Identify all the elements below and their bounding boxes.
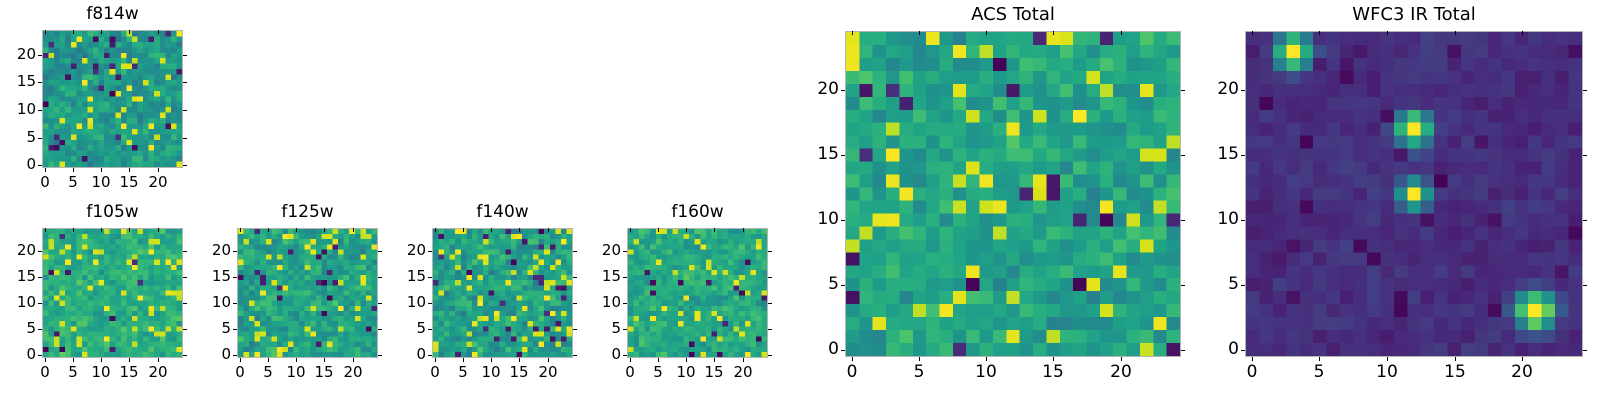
ytick-right-f140w-15 (573, 277, 577, 278)
axes-f814w[interactable] (42, 30, 183, 168)
xticklabel-acs-total-20: 20 (1096, 364, 1146, 381)
xtick-wfc3-ir-total-20 (1522, 357, 1523, 361)
xtick-f140w-10 (491, 358, 492, 362)
xticklabel-f160w-20: 20 (718, 365, 768, 380)
panel-title-f160w: f160w (627, 204, 768, 221)
yticklabel-acs-total-5: 5 (779, 276, 839, 293)
xtick-f105w-5 (73, 358, 74, 362)
xticklabel-wfc3-ir-total-5: 5 (1294, 364, 1344, 381)
xtick-wfc3-ir-total-5 (1319, 357, 1320, 361)
yticklabel-f105w-0: 0 (0, 347, 36, 362)
xtick-f814w-15 (129, 168, 130, 172)
xtick-f140w-5 (463, 358, 464, 362)
yticklabel-f814w-0: 0 (0, 157, 36, 172)
xticklabel-wfc3-ir-total-20: 20 (1497, 364, 1547, 381)
xtick-f125w-20 (353, 358, 354, 362)
xtick-f160w-0 (630, 358, 631, 362)
axes-wfc3-ir-total[interactable] (1245, 31, 1583, 357)
ytick-right-f160w-15 (768, 277, 772, 278)
xtick-f140w-15 (519, 358, 520, 362)
xtick-acs-total-10 (986, 357, 987, 361)
panel-title-f140w: f140w (432, 204, 573, 221)
xtick-acs-total-0 (852, 357, 853, 361)
xtick-f814w-10 (101, 168, 102, 172)
ytick-right-f105w-10 (183, 303, 187, 304)
heatmap-f140w (433, 229, 572, 357)
xtick-f125w-15 (324, 358, 325, 362)
xticklabel-acs-total-10: 10 (961, 364, 1011, 381)
xtick-f140w-20 (548, 358, 549, 362)
panel-title-f105w: f105w (42, 204, 183, 221)
ytick-right-f814w-10 (183, 110, 187, 111)
yticklabel-acs-total-15: 15 (779, 146, 839, 163)
xticklabel-acs-total-15: 15 (1028, 364, 1078, 381)
yticklabel-f105w-10: 10 (0, 295, 36, 310)
ytick-right-f814w-15 (183, 82, 187, 83)
ytick-right-f125w-15 (378, 277, 382, 278)
xtick-wfc3-ir-total-10 (1387, 357, 1388, 361)
xticklabel-f105w-20: 20 (133, 365, 183, 380)
xticklabel-f140w-15: 15 (494, 365, 544, 380)
ytick-right-f125w-5 (378, 329, 382, 330)
xtick-f125w-10 (296, 358, 297, 362)
yticklabel-f105w-15: 15 (0, 269, 36, 284)
xticklabel-wfc3-ir-total-10: 10 (1362, 364, 1412, 381)
yticklabel-wfc3-ir-total-10: 10 (1179, 211, 1239, 228)
panel-title-f814w: f814w (42, 6, 183, 23)
xtick-wfc3-ir-total-15 (1455, 357, 1456, 361)
xticklabel-f160w-10: 10 (661, 365, 711, 380)
xtick-f125w-0 (240, 358, 241, 362)
yticklabel-acs-total-20: 20 (779, 81, 839, 98)
axes-f125w[interactable] (237, 228, 378, 358)
ytick-right-f140w-20 (573, 251, 577, 252)
xtick-acs-total-20 (1121, 357, 1122, 361)
xtick-f125w-5 (268, 358, 269, 362)
xticklabel-acs-total-0: 0 (827, 364, 877, 381)
ytick-right-f105w-15 (183, 277, 187, 278)
xtick-f105w-0 (45, 358, 46, 362)
ytick-right-wfc3-ir-total-5 (1583, 285, 1587, 286)
ytick-right-f160w-5 (768, 329, 772, 330)
ytick-right-f125w-20 (378, 251, 382, 252)
xticklabel-f105w-0: 0 (20, 365, 70, 380)
ytick-right-f105w-5 (183, 329, 187, 330)
xticklabel-f140w-5: 5 (438, 365, 488, 380)
axes-f160w[interactable] (627, 228, 768, 358)
ytick-right-acs-total-0 (1181, 350, 1185, 351)
xtick-f105w-15 (129, 358, 130, 362)
xticklabel-f160w-0: 0 (605, 365, 655, 380)
xtick-f160w-20 (743, 358, 744, 362)
yticklabel-acs-total-10: 10 (779, 211, 839, 228)
xticklabel-f814w-10: 10 (76, 175, 126, 190)
yticklabel-f814w-15: 15 (0, 74, 36, 89)
xtick-acs-total-5 (919, 357, 920, 361)
ytick-right-f140w-10 (573, 303, 577, 304)
ytick-right-wfc3-ir-total-15 (1583, 155, 1587, 156)
xticklabel-wfc3-ir-total-15: 15 (1430, 364, 1480, 381)
heatmap-acs-total (846, 32, 1180, 356)
xticklabel-f160w-15: 15 (689, 365, 739, 380)
xtick-f160w-10 (686, 358, 687, 362)
xtick-f814w-20 (158, 168, 159, 172)
ytick-right-acs-total-10 (1181, 220, 1185, 221)
heatmap-f160w (628, 229, 767, 357)
xticklabel-f160w-5: 5 (633, 365, 683, 380)
yticklabel-wfc3-ir-total-0: 0 (1179, 341, 1239, 358)
ytick-right-f140w-0 (573, 355, 577, 356)
heatmap-f814w (43, 31, 182, 167)
xtick-f160w-15 (714, 358, 715, 362)
panel-title-wfc3-ir-total: WFC3 IR Total (1245, 6, 1583, 24)
yticklabel-acs-total-0: 0 (779, 341, 839, 358)
yticklabel-f814w-10: 10 (0, 102, 36, 117)
ytick-right-acs-total-20 (1181, 90, 1185, 91)
panel-title-f125w: f125w (237, 204, 378, 221)
xtick-f814w-5 (73, 168, 74, 172)
xtick-f105w-20 (158, 358, 159, 362)
xticklabel-f140w-0: 0 (410, 365, 460, 380)
yticklabel-wfc3-ir-total-5: 5 (1179, 276, 1239, 293)
ytick-right-f105w-20 (183, 251, 187, 252)
xticklabel-f125w-5: 5 (243, 365, 293, 380)
yticklabel-f814w-5: 5 (0, 130, 36, 145)
xticklabel-f140w-20: 20 (523, 365, 573, 380)
xticklabel-f125w-20: 20 (328, 365, 378, 380)
xticklabel-wfc3-ir-total-0: 0 (1227, 364, 1277, 381)
axes-f105w[interactable] (42, 228, 183, 358)
ytick-right-f140w-5 (573, 329, 577, 330)
ytick-right-f814w-0 (183, 165, 187, 166)
yticklabel-f105w-20: 20 (0, 243, 36, 258)
xticklabel-acs-total-5: 5 (894, 364, 944, 381)
heatmap-wfc3-ir-total (1246, 32, 1582, 356)
xtick-f814w-0 (45, 168, 46, 172)
xticklabel-f125w-10: 10 (271, 365, 321, 380)
heatmap-f105w (43, 229, 182, 357)
xticklabel-f105w-10: 10 (76, 365, 126, 380)
axes-f140w[interactable] (432, 228, 573, 358)
ytick-right-wfc3-ir-total-20 (1583, 90, 1587, 91)
panel-title-acs-total: ACS Total (845, 6, 1181, 24)
xticklabel-f814w-20: 20 (133, 175, 183, 190)
ytick-right-acs-total-5 (1181, 285, 1185, 286)
ytick-right-f125w-0 (378, 355, 382, 356)
xtick-f160w-5 (658, 358, 659, 362)
xticklabel-f125w-0: 0 (215, 365, 265, 380)
xticklabel-f125w-15: 15 (299, 365, 349, 380)
xtick-acs-total-15 (1053, 357, 1054, 361)
xticklabel-f814w-15: 15 (104, 175, 154, 190)
ytick-right-f160w-20 (768, 251, 772, 252)
yticklabel-wfc3-ir-total-15: 15 (1179, 146, 1239, 163)
xticklabel-f814w-0: 0 (20, 175, 70, 190)
ytick-right-f814w-20 (183, 55, 187, 56)
yticklabel-f814w-20: 20 (0, 47, 36, 62)
ytick-right-f160w-10 (768, 303, 772, 304)
xticklabel-f105w-5: 5 (48, 365, 98, 380)
ytick-right-acs-total-15 (1181, 155, 1185, 156)
xtick-wfc3-ir-total-0 (1252, 357, 1253, 361)
xticklabel-f140w-10: 10 (466, 365, 516, 380)
figure-canvas: f814w0510152005101520f105w05101520051015… (0, 0, 1600, 400)
xticklabel-f814w-5: 5 (48, 175, 98, 190)
yticklabel-wfc3-ir-total-20: 20 (1179, 81, 1239, 98)
ytick-right-f125w-10 (378, 303, 382, 304)
yticklabel-f105w-5: 5 (0, 321, 36, 336)
ytick-right-f814w-5 (183, 138, 187, 139)
xtick-f105w-10 (101, 358, 102, 362)
xticklabel-f105w-15: 15 (104, 365, 154, 380)
ytick-right-wfc3-ir-total-10 (1583, 220, 1587, 221)
ytick-right-wfc3-ir-total-0 (1583, 350, 1587, 351)
ytick-right-f105w-0 (183, 355, 187, 356)
heatmap-f125w (238, 229, 377, 357)
xtick-f140w-0 (435, 358, 436, 362)
ytick-right-f160w-0 (768, 355, 772, 356)
axes-acs-total[interactable] (845, 31, 1181, 357)
